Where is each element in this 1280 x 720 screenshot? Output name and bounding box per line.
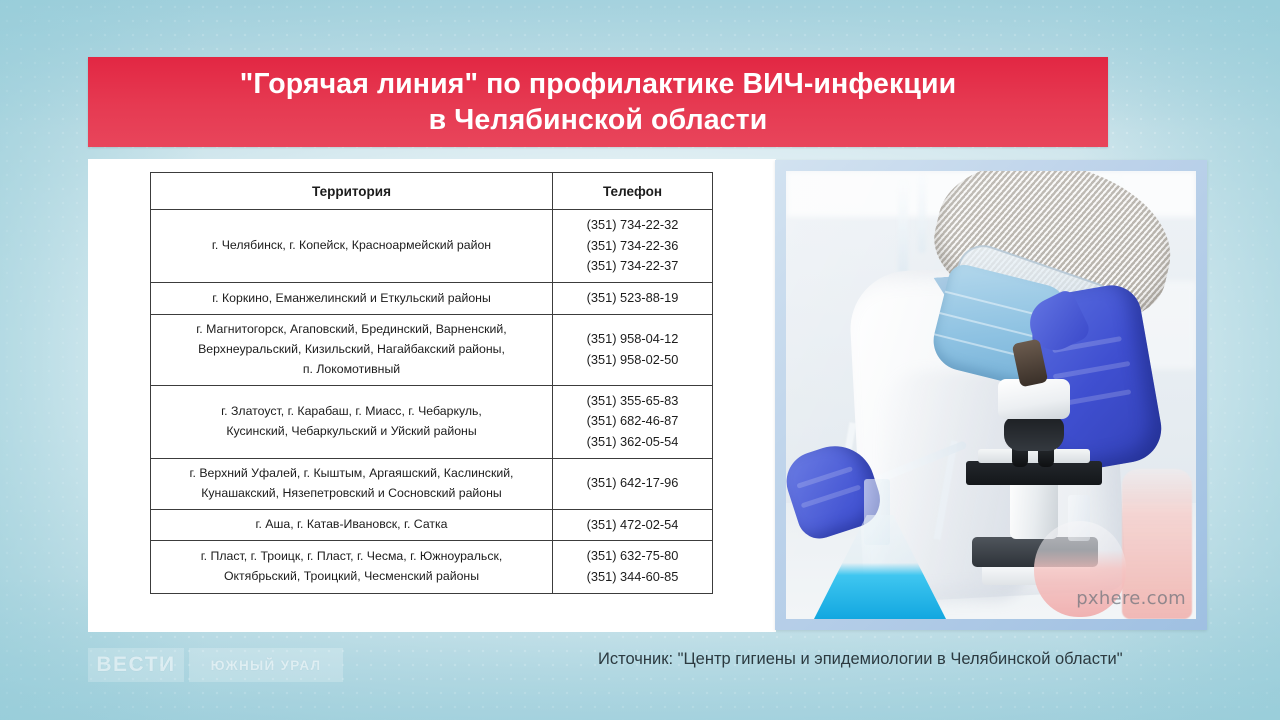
cell-phone: (351) 734-22-32 (351) 734-22-36 (351) 73… [553,210,713,283]
cell-territory: г. Челябинск, г. Копейск, Красноармейски… [151,210,553,283]
table-row: г. Златоуст, г. Карабаш, г. Миасс, г. Че… [151,385,713,458]
title-banner: "Горячая линия" по профилактике ВИЧ-инфе… [88,57,1108,147]
table-row: г. Коркино, Еманжелинский и Еткульский р… [151,283,713,315]
cell-territory: г. Аша, г. Катав-Ивановск, г. Сатка [151,509,553,541]
channel-logo: ВЕСТИ ЮЖНЫЙ УРАЛ [88,648,343,682]
column-header-territory: Территория [151,173,553,210]
photo-watermark: pxhere.com [1076,588,1186,609]
laboratory-photo: pxhere.com [786,171,1196,619]
page-title: "Горячая линия" по профилактике ВИЧ-инфе… [218,66,978,139]
table-row: г. Пласт, г. Троицк, г. Пласт, г. Чесма,… [151,541,713,593]
logo-region-text: ЮЖНЫЙ УРАЛ [189,648,343,682]
column-header-phone: Телефон [553,173,713,210]
logo-vesti-text: ВЕСТИ [88,648,184,682]
glass-tube-icon [918,175,926,253]
photo-frame: pxhere.com [775,160,1207,630]
table-header-row: Территория Телефон [151,173,713,210]
cell-territory: г. Верхний Уфалей, г. Кыштым, Аргаяшский… [151,458,553,509]
cell-territory: г. Магнитогорск, Агаповский, Брединский,… [151,314,553,385]
cell-territory: г. Златоуст, г. Карабаш, г. Миасс, г. Че… [151,385,553,458]
table-row: г. Челябинск, г. Копейск, Красноармейски… [151,210,713,283]
table-row: г. Аша, г. Катав-Ивановск, г. Сатка(351)… [151,509,713,541]
cell-phone: (351) 472-02-54 [553,509,713,541]
cell-phone: (351) 523-88-19 [553,283,713,315]
source-caption: Источник: "Центр гигиены и эпидемиологии… [598,650,1212,669]
cell-phone: (351) 355-65-83 (351) 682-46-87 (351) 36… [553,385,713,458]
cell-territory: г. Пласт, г. Троицк, г. Пласт, г. Чесма,… [151,541,553,593]
microscope-head [998,379,1070,419]
cell-territory: г. Коркино, Еманжелинский и Еткульский р… [151,283,553,315]
cell-phone: (351) 632-75-80 (351) 344-60-85 [553,541,713,593]
hotline-phone-table: Территория Телефон г. Челябинск, г. Копе… [150,172,713,594]
cell-phone: (351) 642-17-96 [553,458,713,509]
table-body: г. Челябинск, г. Копейск, Красноармейски… [151,210,713,594]
table-row: г. Верхний Уфалей, г. Кыштым, Аргаяшский… [151,458,713,509]
table-row: г. Магнитогорск, Агаповский, Брединский,… [151,314,713,385]
glass-tube-icon [898,181,908,273]
microscope-nosepiece [1004,417,1064,451]
microscope-stage-plate [978,449,1090,463]
cell-phone: (351) 958-04-12 (351) 958-02-50 [553,314,713,385]
microscope-stage [966,461,1102,485]
table-card: Территория Телефон г. Челябинск, г. Копе… [88,159,776,632]
